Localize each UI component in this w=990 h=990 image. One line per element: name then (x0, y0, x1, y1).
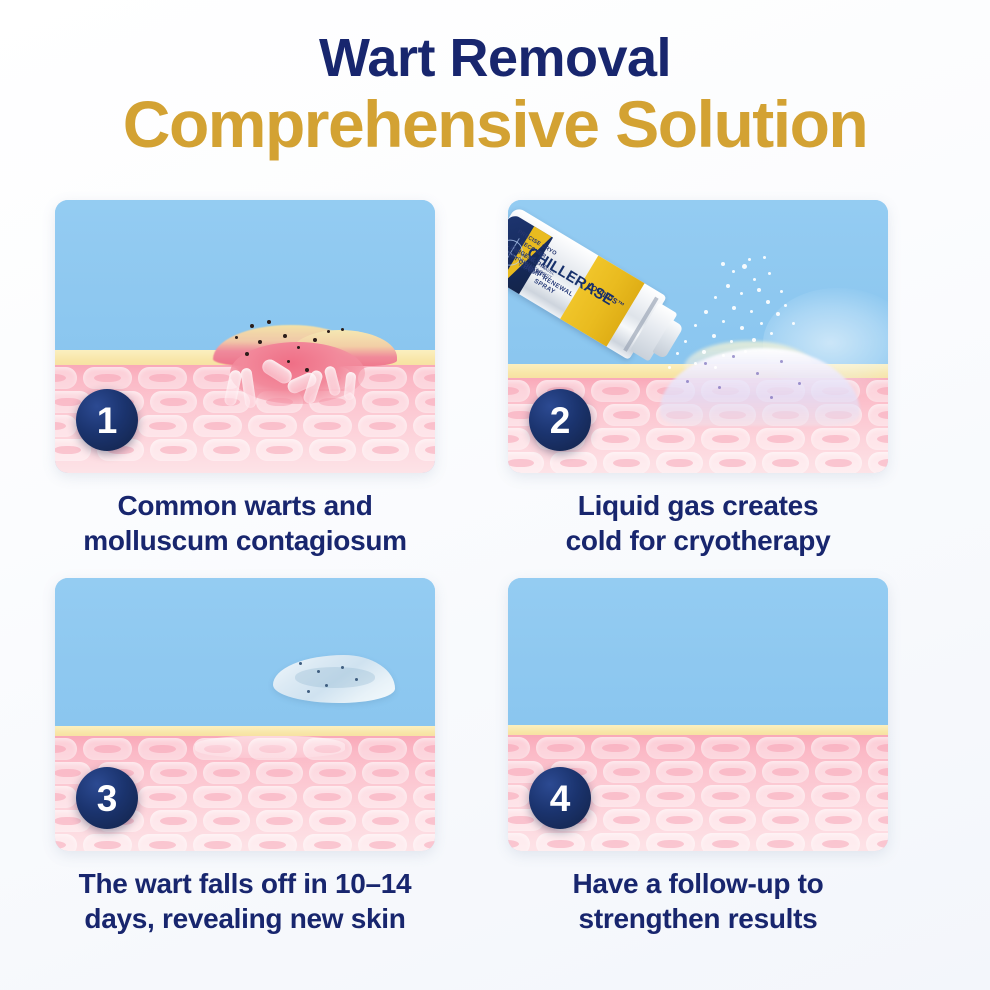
step-3-caption: The wart falls off in 10–14 days, reveal… (55, 866, 435, 937)
step-card-2: LOVILDS™ CHILLERASE BUMP RENEWAL SPRAY P… (508, 200, 888, 473)
cell-row (508, 833, 888, 851)
caption-line: Liquid gas creates (508, 488, 888, 523)
step-number-badge: 1 (76, 389, 138, 451)
step-number-badge: 2 (529, 389, 591, 451)
page-header: Wart Removal Comprehensive Solution (0, 0, 990, 161)
caption-line: cold for cryotherapy (508, 523, 888, 558)
step-4-illustration: 4 (508, 578, 888, 851)
frost-speck (770, 396, 773, 399)
sky-background-4 (508, 578, 888, 728)
wart-black-dot (313, 338, 317, 342)
step-card-1: 1 Common warts and molluscum contagiosum (55, 200, 435, 473)
wart-black-dot (283, 334, 287, 338)
frost-speck (798, 382, 801, 385)
step-number-badge: 4 (529, 767, 591, 829)
flake-speck (355, 678, 358, 681)
step-number-badge: 3 (76, 767, 138, 829)
wart-black-dot (297, 346, 300, 349)
wart-black-dot (267, 320, 271, 324)
frost-speck (704, 362, 707, 365)
flake-speck (299, 662, 302, 665)
new-skin-highlight (195, 736, 345, 758)
cell-row (508, 737, 888, 759)
caption-line: molluscum contagiosum (55, 523, 435, 558)
step-2-illustration: LOVILDS™ CHILLERASE BUMP RENEWAL SPRAY P… (508, 200, 888, 473)
page-title: Wart Removal (0, 30, 990, 87)
step-card-4: 4 Have a follow-up to strengthen results (508, 578, 888, 851)
wart-black-dot (341, 328, 344, 331)
frost-speck (718, 386, 721, 389)
caption-line: The wart falls off in 10–14 (55, 866, 435, 901)
caption-line: Common warts and (55, 488, 435, 523)
step-card-3: 3 The wart falls off in 10–14 days, reve… (55, 578, 435, 851)
wart-black-dot (245, 352, 249, 356)
page-subtitle: Comprehensive Solution (0, 89, 990, 160)
step-3-illustration: 3 (55, 578, 435, 851)
frost-speck (756, 372, 759, 375)
caption-line: strengthen results (508, 901, 888, 936)
steps-grid: 1 Common warts and molluscum contagiosum (55, 200, 935, 960)
wart-black-dot (235, 336, 238, 339)
step-1-illustration: 1 (55, 200, 435, 473)
wart-black-dot (258, 340, 262, 344)
wart-black-dot (305, 368, 309, 372)
cell-row (55, 834, 435, 851)
frost-speck (732, 355, 735, 358)
step-1-caption: Common warts and molluscum contagiosum (55, 488, 435, 559)
wart-black-dot (287, 360, 290, 363)
caption-line: days, revealing new skin (55, 901, 435, 936)
frost-speck (686, 380, 689, 383)
flake-speck (317, 670, 320, 673)
sky-background-3 (55, 578, 435, 730)
wart-black-dot (327, 330, 330, 333)
step-2-caption: Liquid gas creates cold for cryotherapy (508, 488, 888, 559)
frost-speck (780, 360, 783, 363)
cell-row (508, 452, 888, 473)
flake-speck (341, 666, 344, 669)
step-4-caption: Have a follow-up to strengthen results (508, 866, 888, 937)
flake-speck (325, 684, 328, 687)
flake-speck (307, 690, 310, 693)
wart-black-dot (250, 324, 254, 328)
caption-line: Have a follow-up to (508, 866, 888, 901)
